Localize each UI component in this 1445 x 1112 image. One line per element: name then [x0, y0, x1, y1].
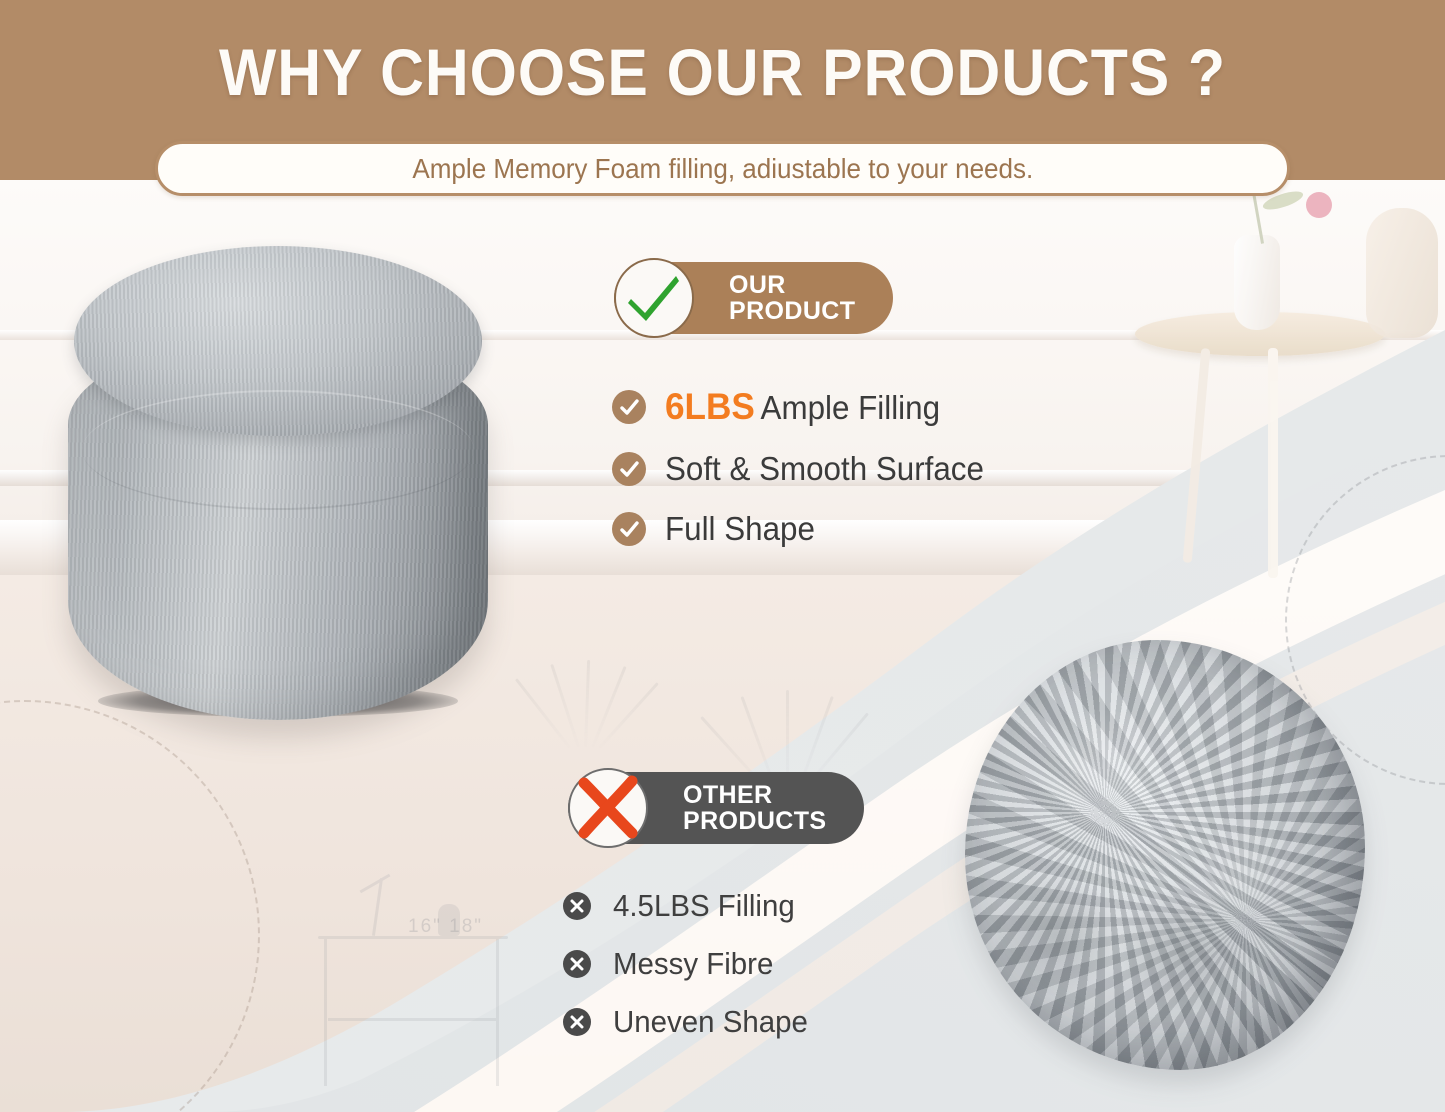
x-circle-icon: [563, 892, 591, 920]
feature-text: Ample Filling: [761, 389, 940, 426]
feature-row: Messy Fibre: [563, 946, 818, 982]
feature-text: Messy Fibre: [613, 946, 773, 982]
feature-highlight: 6LBS: [665, 386, 755, 427]
table-leg-center: [1268, 348, 1278, 578]
check-circle-icon: [612, 512, 646, 546]
feature-row: 4.5LBS Filling: [563, 888, 818, 924]
check-circle-icon-glyph: [619, 459, 640, 480]
infographic-canvas: 16" 18" WHY CHOOSE OUR PRODUCTS ? Ample …: [0, 0, 1445, 1112]
check-circle-icon-glyph: [619, 519, 640, 540]
feature-label: 6LBSAmple Filling: [665, 386, 940, 428]
feature-text: Full Shape: [665, 510, 815, 548]
feature-row: Uneven Shape: [563, 1004, 818, 1040]
x-circle-icon-glyph: [569, 956, 585, 972]
green-check-icon: [614, 258, 694, 338]
flower-bud-pink: [1306, 192, 1332, 218]
vase-beige: [1366, 208, 1438, 338]
our-product-feature-list: 6LBSAmple Filling Soft & Smooth Surface …: [612, 386, 1001, 570]
our-product-image: [68, 240, 488, 720]
subtitle-text: Ample Memory Foam filling, adiustable to…: [412, 153, 1033, 185]
pouf-dent: [995, 870, 1115, 1000]
other-products-badge-text: OTHER PRODUCTS: [683, 782, 826, 835]
x-circle-icon-glyph: [569, 1014, 585, 1030]
other-products-feature-list: 4.5LBS Filling Messy Fibre Uneven Shape: [563, 888, 818, 1062]
feature-text: Uneven Shape: [613, 1004, 808, 1040]
ghost-dimension-label: 16" 18": [408, 916, 483, 938]
pouf-lump: [1025, 710, 1175, 830]
x-circle-icon-glyph: [569, 898, 585, 914]
our-product-badge-line1: OUR: [729, 272, 855, 298]
other-products-badge-line2: PRODUCTS: [683, 808, 826, 834]
red-cross-icon-glyph: [576, 777, 640, 839]
check-circle-icon-glyph: [619, 397, 640, 418]
other-products-badge: OTHER PRODUCTS: [568, 772, 864, 844]
our-product-badge: OUR PRODUCT: [614, 262, 893, 334]
feature-text: Soft & Smooth Surface: [665, 450, 984, 488]
x-circle-icon: [563, 1008, 591, 1036]
other-products-badge-line1: OTHER: [683, 782, 826, 808]
pouf-seam: [82, 390, 474, 510]
green-check-icon-glyph: [625, 272, 683, 324]
feature-row: 6LBSAmple Filling: [612, 386, 1001, 428]
check-circle-icon: [612, 452, 646, 486]
page-title: WHY CHOOSE OUR PRODUCTS ?: [58, 34, 1387, 110]
subtitle-pill: Ample Memory Foam filling, adiustable to…: [155, 141, 1290, 196]
other-product-image: [965, 640, 1365, 1070]
red-cross-icon: [568, 768, 648, 848]
feature-row: Soft & Smooth Surface: [612, 450, 1001, 488]
feature-text: 4.5LBS Filling: [613, 888, 795, 924]
pouf-dent: [1115, 890, 1255, 1010]
our-product-badge-text: OUR PRODUCT: [729, 272, 855, 325]
vase-white: [1234, 235, 1280, 330]
table-leg-left: [1183, 348, 1211, 563]
check-circle-icon: [612, 390, 646, 424]
x-circle-icon: [563, 950, 591, 978]
our-product-badge-line2: PRODUCT: [729, 298, 855, 324]
side-table-scene: [1130, 190, 1445, 580]
feature-row: Full Shape: [612, 510, 1001, 548]
